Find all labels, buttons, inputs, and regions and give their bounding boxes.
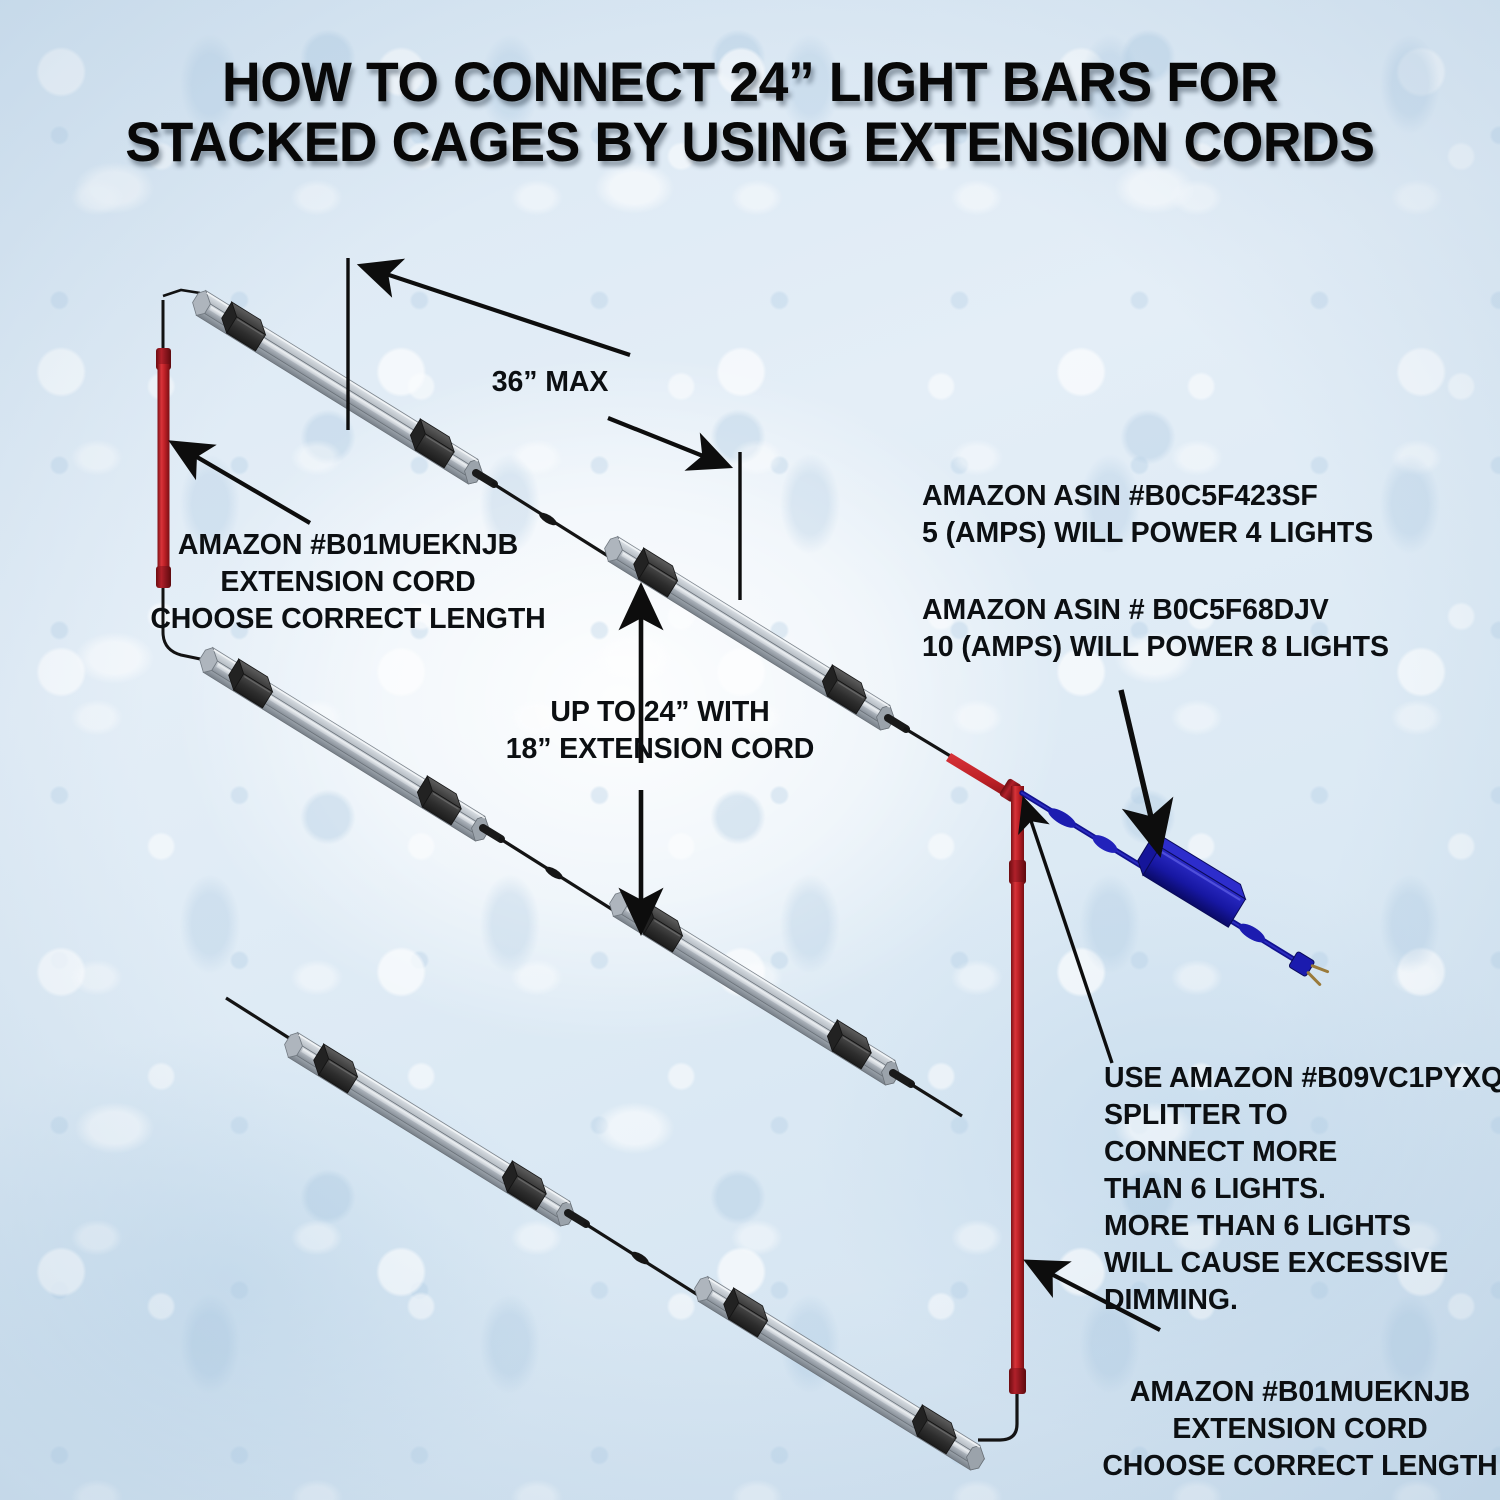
label-asin-10amp: AMAZON ASIN # B0C5F68DJV 10 (AMPS) WILL … (922, 592, 1482, 666)
dimension-label-24in: UP TO 24” WITH 18” EXTENSION CORD (450, 694, 870, 768)
left-cord-callout-arrow (173, 443, 310, 523)
label-splitter: USE AMAZON #B09VC1PYXQ SPLITTER TO CONNE… (1104, 1060, 1500, 1319)
label-right-extension-cord: AMAZON #B01MUEKNJB EXTENSION CORD CHOOSE… (1098, 1374, 1500, 1485)
infographic-canvas: HOW TO CONNECT 24” LIGHT BARS FOR STACKE… (0, 0, 1500, 1500)
label-left-extension-cord: AMAZON #B01MUEKNJB EXTENSION CORD CHOOSE… (148, 527, 548, 638)
dim-arrow-top (362, 266, 630, 355)
splitter-callout-arrow (1024, 800, 1112, 1063)
adapter-callout-arrow (1121, 690, 1159, 851)
dimension-label-36max: 36” MAX (440, 364, 660, 401)
page-title: HOW TO CONNECT 24” LIGHT BARS FOR STACKE… (34, 52, 1467, 172)
label-asin-5amp: AMAZON ASIN #B0C5F423SF 5 (AMPS) WILL PO… (922, 478, 1462, 552)
dim-arrow-bottom (608, 418, 728, 466)
